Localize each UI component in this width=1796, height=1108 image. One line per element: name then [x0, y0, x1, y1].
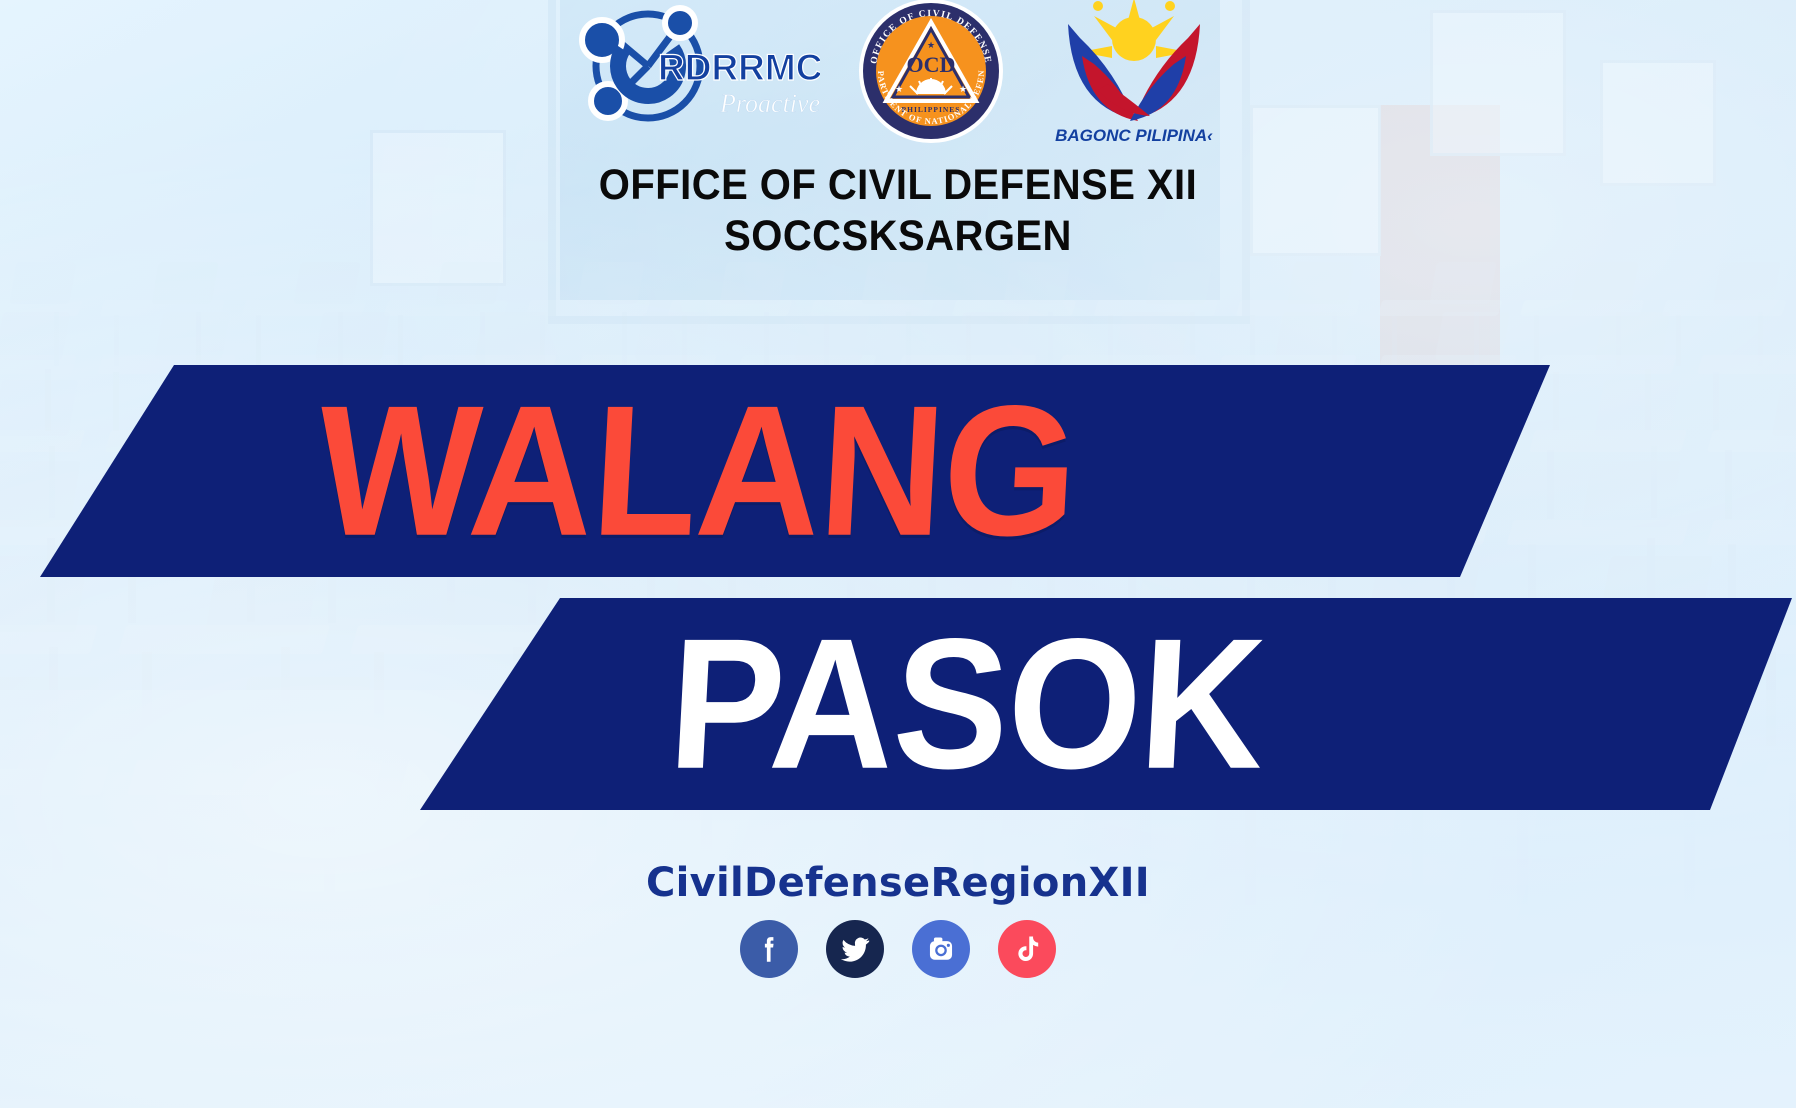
- svg-text:★: ★: [926, 40, 934, 50]
- tiktok-icon[interactable]: [998, 920, 1056, 978]
- logo-row: RDRRMC XII Proactive RDRRMC XII Proactiv…: [0, 0, 1796, 150]
- svg-text:BAGONC PILIPINA‹: BAGONC PILIPINA‹: [1055, 126, 1213, 144]
- social-icon-row: [0, 920, 1796, 978]
- header-line-1: OFFICE OF CIVIL DEFENSE XII: [63, 160, 1733, 211]
- rdrrmc-xii-logo: RDRRMC XII Proactive RDRRMC XII Proactiv…: [570, 4, 820, 129]
- walang-banner: WALANG: [40, 365, 1550, 577]
- header-line-2: SOCCSKSARGEN: [63, 211, 1733, 262]
- svg-text:★: ★: [894, 84, 902, 94]
- bagong-pilipinas-logo: BAGONC PILIPINA‹ BAGONC PILIPINA‹: [1042, 0, 1227, 144]
- svg-text:Proactive: Proactive: [719, 89, 820, 118]
- instagram-icon[interactable]: [912, 920, 970, 978]
- pasok-banner: PASOK: [420, 598, 1792, 810]
- svg-text:OCD: OCD: [906, 52, 955, 77]
- svg-text:★: ★: [958, 84, 966, 94]
- footer: CivilDefenseRegionXII: [0, 860, 1796, 978]
- svg-text:RDRRMC XII: RDRRMC XII: [658, 47, 820, 88]
- ocd-seal: OCD ★ ★ ★ PHILIPPINES OFFICE OF CIVIL DE…: [856, 0, 1006, 146]
- walang-pasok-poster: RDRRMC XII Proactive RDRRMC XII Proactiv…: [0, 0, 1796, 1108]
- facebook-icon[interactable]: [740, 920, 798, 978]
- page-title: OFFICE OF CIVIL DEFENSE XII SOCCSKSARGEN: [63, 160, 1733, 261]
- walang-text: WALANG: [313, 378, 1081, 564]
- twitter-icon[interactable]: [826, 920, 884, 978]
- pasok-text: PASOK: [665, 611, 1269, 797]
- social-handle: CivilDefenseRegionXII: [0, 860, 1796, 906]
